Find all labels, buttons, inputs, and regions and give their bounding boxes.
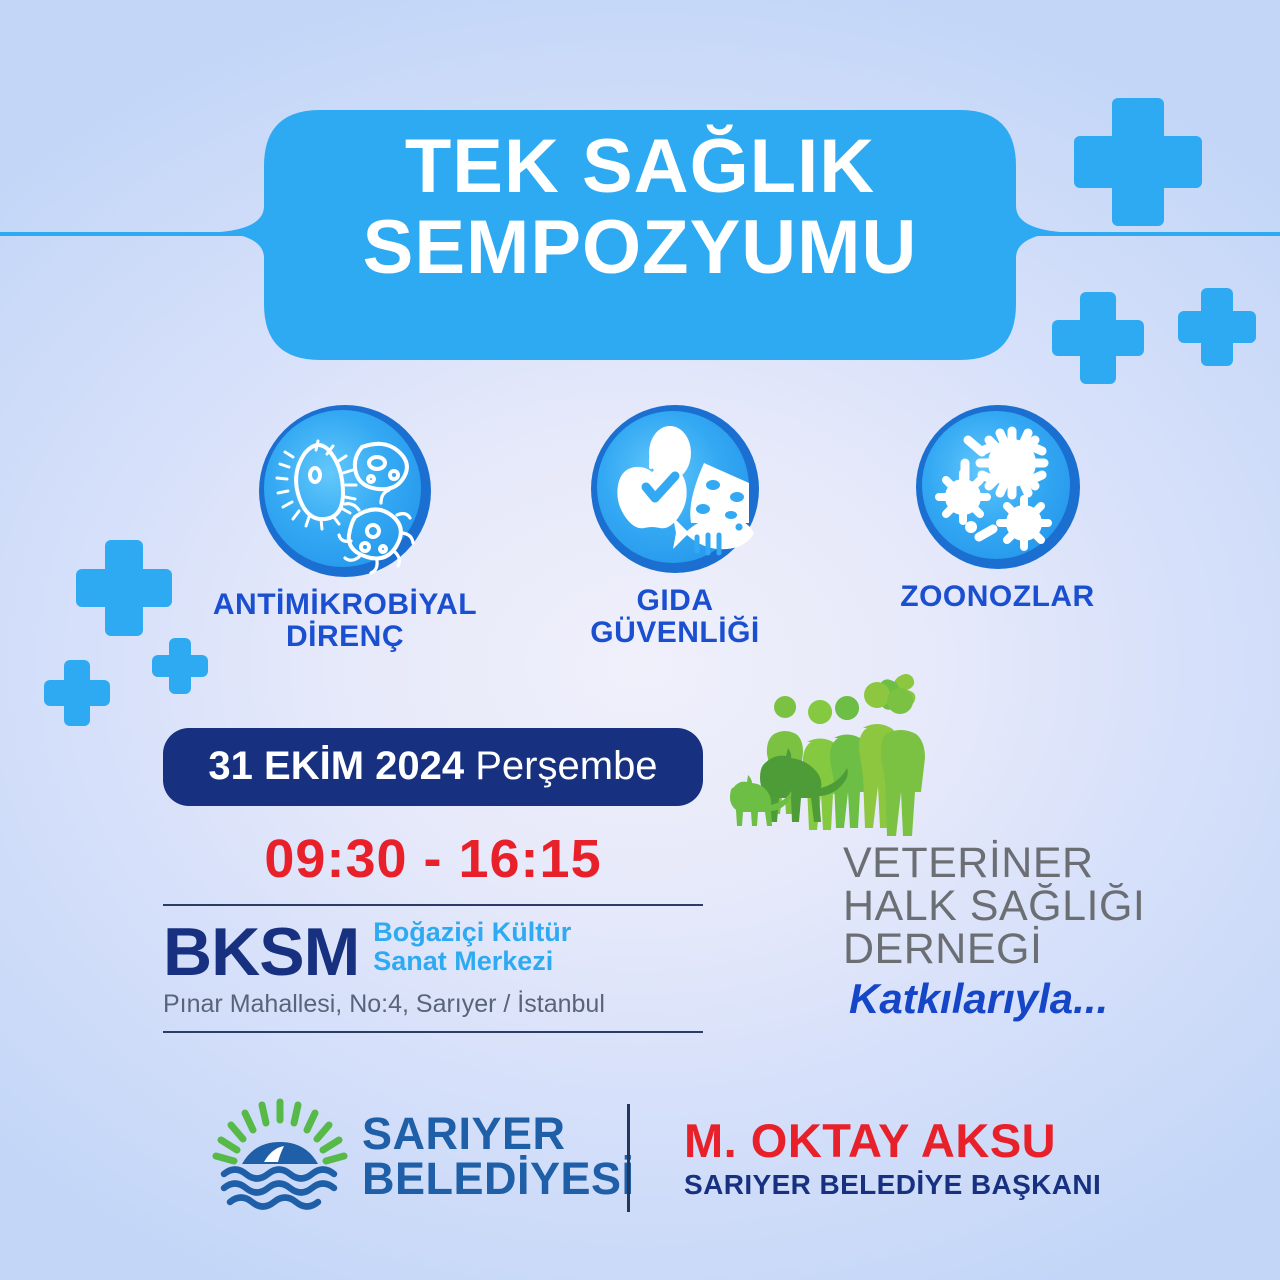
venue-full-name: Boğaziçi Kültür Sanat Merkezi: [373, 918, 571, 980]
association-silhouette-art: [725, 672, 985, 842]
event-info: 31 EKİM 2024 Perşembe 09:30 - 16:15 BKSM…: [163, 728, 703, 1033]
virus-glyph: [916, 405, 1080, 569]
title-banner: TEK SAĞLIK SEMPOZYUMU: [0, 110, 1280, 360]
association-logo: VETERİNER HALK SAĞLIĞI DERNEGİ Katkıları…: [715, 672, 1155, 1023]
banner-title: TEK SAĞLIK SEMPOZYUMU: [255, 126, 1025, 289]
mayor-title: SARIYER BELEDİYE BAŞKANI: [684, 1169, 1101, 1201]
sariyer-sun-sea-icon: [212, 1098, 348, 1214]
bacteria-glyph: [259, 405, 431, 577]
food-safety-icon: [591, 405, 759, 573]
association-tagline: Katkılarıyla...: [849, 975, 1155, 1023]
topic-zoonoses: ZOONOZLAR: [825, 405, 1170, 613]
food-glyph: [591, 405, 759, 573]
topic-food-safety: GIDA GÜVENLİĞİ: [545, 405, 805, 650]
municipality-logo: SARIYER BELEDİYESİ: [212, 1098, 635, 1214]
venue: BKSM Boğaziçi Kültür Sanat Merkezi: [163, 906, 703, 982]
plus-icon-left-large: [76, 540, 172, 636]
banner-title-line2: SEMPOZYUMU: [255, 207, 1025, 288]
footer: SARIYER BELEDİYESİ M. OKTAY AKSU SARIYER…: [0, 1090, 1280, 1230]
divider-bottom: [163, 1031, 703, 1033]
topic-label: ANTİMİKROBİYAL DİRENÇ: [170, 589, 520, 654]
event-time: 09:30 - 16:15: [163, 828, 703, 890]
event-weekday: Perşembe: [475, 744, 657, 788]
event-date-badge: 31 EKİM 2024 Perşembe: [163, 728, 703, 806]
association-name: VETERİNER HALK SAĞLIĞI DERNEGİ: [843, 842, 1155, 971]
bacteria-icon: [259, 405, 431, 577]
municipality-wordmark: SARIYER BELEDİYESİ: [362, 1111, 635, 1201]
venue-address: Pınar Mahallesi, No:4, Sarıyer / İstanbu…: [163, 982, 703, 1031]
footer-divider: [627, 1104, 630, 1212]
plus-icon-left-small: [44, 660, 110, 726]
topic-antimicrobial-resistance: ANTİMİKROBİYAL DİRENÇ: [170, 405, 520, 654]
venue-abbreviation: BKSM: [163, 925, 359, 981]
topic-label: GIDA GÜVENLİĞİ: [545, 585, 805, 650]
mayor-block: M. OKTAY AKSU SARIYER BELEDİYE BAŞKANI: [684, 1116, 1101, 1201]
waves-icon: [224, 1170, 334, 1207]
event-date: 31 EKİM 2024: [208, 744, 464, 788]
topics-row: ANTİMİKROBİYAL DİRENÇ: [170, 405, 1170, 655]
banner-title-line1: TEK SAĞLIK: [255, 126, 1025, 207]
virus-icon: [916, 405, 1080, 569]
topic-label: ZOONOZLAR: [825, 581, 1170, 613]
mayor-name: M. OKTAY AKSU: [684, 1116, 1101, 1165]
